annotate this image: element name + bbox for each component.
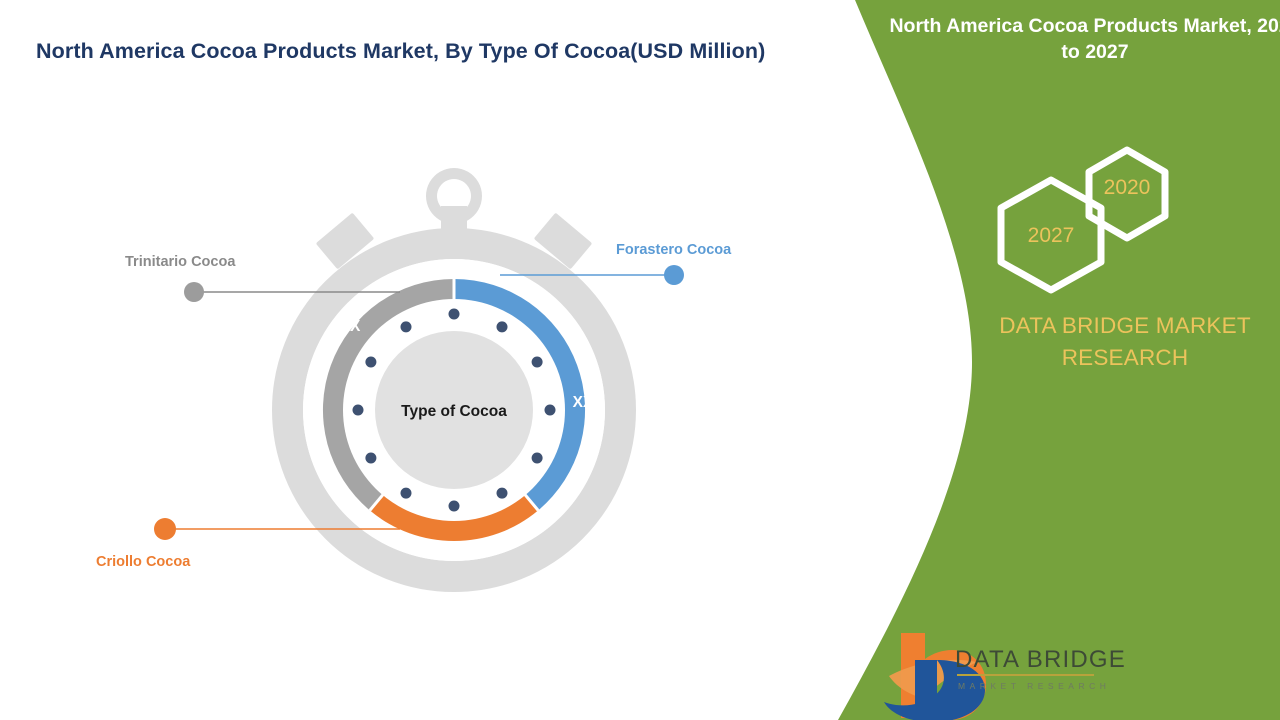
data-bridge-logo [884,633,986,720]
callout-dot-trinitario[interactable] [184,282,204,302]
brand-panel-name: DATA BRIDGE MARKET RESEARCH [975,310,1275,374]
logo-blue-d-icon [884,660,985,720]
callout-dot-criollo[interactable] [154,518,176,540]
segment-value-forastero: XX [573,394,594,411]
logo-wordmark: DATA BRIDGE [955,646,1126,673]
callout-dot-forastero[interactable] [664,265,684,285]
logo-subtext: MARKET RESEARCH [958,681,1110,691]
hexagon-2020-label: 2020 [1104,176,1151,199]
hexagon-2020-icon [1089,150,1165,238]
brand-panel-heading: North America Cocoa Products Market, 202… [885,14,1280,65]
callout-label-forastero: Forastero Cocoa [616,242,731,258]
donut-center-label: Type of Cocoa [401,403,507,420]
hexagon-2027-icon [1001,180,1101,290]
donut-chart-svg: Type of Cocoa XX XX XX [0,0,860,720]
segment-value-trinitario: XX [340,318,361,335]
logo-orange-b-icon [901,633,986,720]
infographic-canvas: North America Cocoa Products Market, By … [0,0,1280,720]
donut-chart: Type of Cocoa XX XX XX Trinitario Cocoa … [0,0,860,720]
callout-label-criollo: Criollo Cocoa [96,554,190,570]
hexagon-group [1001,150,1165,290]
hexagon-2027-label: 2027 [1028,224,1075,247]
logo-blue-swoosh-icon [889,660,977,698]
segment-value-criollo: XX [405,537,426,554]
callout-label-trinitario: Trinitario Cocoa [125,254,235,270]
